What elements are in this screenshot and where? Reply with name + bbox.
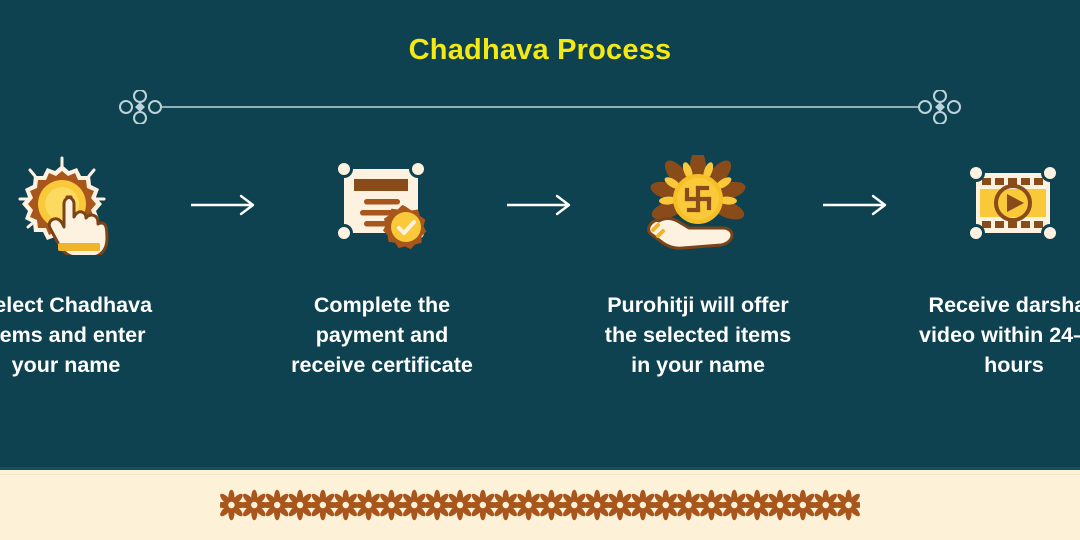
footer-hairline xyxy=(0,474,1080,475)
process-steps: Select Chadhava items and enter your nam… xyxy=(0,155,1080,395)
hand-tap-sun-icon xyxy=(14,155,118,255)
footer-band xyxy=(0,467,1080,540)
flower-ornament xyxy=(833,490,860,521)
process-step-3: Purohitji will offer the selected items … xyxy=(582,155,814,380)
process-step-4: Receive darshan video within 24–48 hours xyxy=(898,155,1080,380)
video-play-frame-icon xyxy=(962,155,1066,255)
process-step-2-label: Complete the payment and receive certifi… xyxy=(266,290,498,380)
page-title: Chadhava Process xyxy=(0,33,1080,67)
certificate-seal-icon xyxy=(330,155,434,255)
process-step-4-label: Receive darshan video within 24–48 hours xyxy=(898,290,1080,380)
flower-border xyxy=(220,485,860,525)
process-step-3-label: Purohitji will offer the selected items … xyxy=(582,290,814,380)
arrow-right-icon xyxy=(182,155,266,255)
arrow-right-icon xyxy=(498,155,582,255)
ornamental-divider xyxy=(118,90,962,124)
process-step-1: Select Chadhava items and enter your nam… xyxy=(0,155,182,380)
chadhava-process-infographic: Chadhava Process xyxy=(0,0,1080,540)
hand-offering-swastika-icon xyxy=(643,155,753,255)
arrow-right-icon xyxy=(814,155,898,255)
process-step-1-label: Select Chadhava items and enter your nam… xyxy=(0,290,182,380)
process-step-2: Complete the payment and receive certifi… xyxy=(266,155,498,380)
